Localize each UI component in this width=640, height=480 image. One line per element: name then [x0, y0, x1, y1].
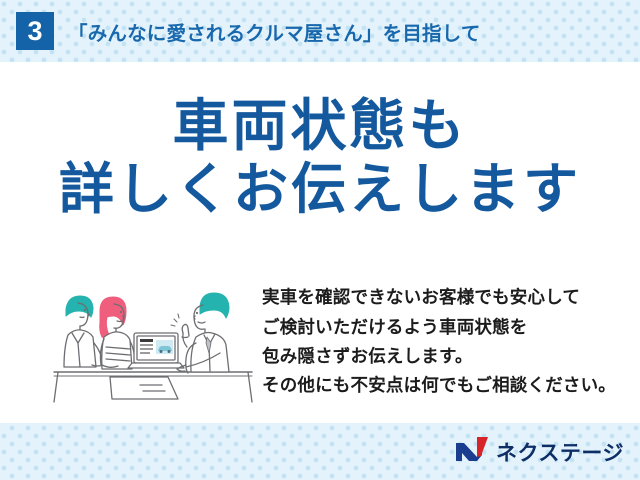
consultation-illustration	[48, 277, 258, 407]
headline-line-2: 詳しくお伝えします	[0, 158, 640, 221]
slide-root: 3 「みんなに愛されるクルマ屋さん」を目指して 車両状態も 詳しくお伝えします	[0, 0, 640, 480]
step-number-badge: 3	[16, 12, 54, 50]
brand-name: ネクステージ	[496, 437, 624, 467]
content-panel: 車両状態も 詳しくお伝えします	[0, 62, 640, 423]
body-copy-line-4: その他にも不安点は何でもご相談ください。	[262, 371, 622, 400]
body-copy-line-2: ご検討いただけるよう車両状態を	[262, 313, 622, 342]
headline-line-1: 車両状態も	[0, 94, 640, 158]
nextage-n-logo-icon	[455, 436, 489, 467]
body-copy-line-1: 実車を確認できないお客様でも安心して	[262, 283, 622, 312]
header-title: 「みんなに愛されるクルマ屋さん」を目指して	[68, 17, 481, 46]
lower-section: 実車を確認できないお客様でも安心して ご検討いただけるよう車両状態を 包み隠さず…	[0, 267, 640, 417]
footer: ネクステージ	[0, 423, 640, 480]
headline: 車両状態も 詳しくお伝えします	[0, 94, 640, 221]
brand-logo: ネクステージ	[455, 436, 624, 467]
body-copy-line-3: 包み隠さずお伝えします。	[262, 342, 622, 371]
body-copy: 実車を確認できないお客様でも安心して ご検討いただけるよう車両状態を 包み隠さず…	[262, 283, 640, 401]
header: 3 「みんなに愛されるクルマ屋さん」を目指して	[0, 0, 640, 62]
